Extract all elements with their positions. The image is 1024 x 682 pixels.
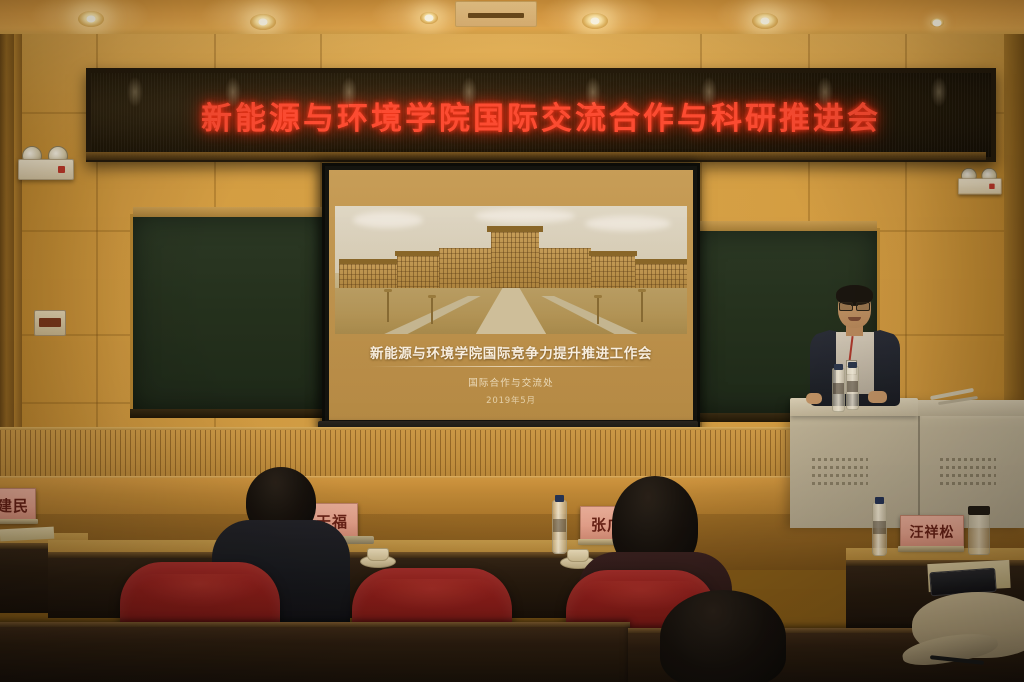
spotlight-icon xyxy=(752,13,778,29)
front-row-desk xyxy=(0,622,630,682)
chalkboard-left xyxy=(130,214,332,412)
wall-left-pillar-inner xyxy=(14,34,22,434)
spotlight-icon xyxy=(78,11,104,27)
nameplate-text: 汪祥松 xyxy=(910,522,955,542)
av-desk xyxy=(918,400,1024,416)
led-banner-shadow xyxy=(86,152,986,160)
nameplate-base xyxy=(0,519,38,524)
slide-date: 2019年5月 xyxy=(329,394,693,406)
projection-screen: 新能源与环境学院国际竞争力提升推进工作会 国际合作与交流处 2019年5月 xyxy=(322,163,700,427)
spotlight-icon xyxy=(930,18,944,27)
conference-hall-photo: 新能源与环境学院国际交流合作与科研推进会 xyxy=(0,0,1024,682)
led-banner: 新能源与环境学院国际交流合作与科研推进会 xyxy=(86,68,996,162)
nameplate-text: 建民 xyxy=(0,495,29,516)
wall-right-pillar xyxy=(1004,34,1024,434)
foreground-person-head xyxy=(660,590,786,682)
spotlight-icon xyxy=(250,14,276,30)
air-vent-icon xyxy=(455,1,537,27)
glasses-icon xyxy=(839,302,870,309)
slide-divider xyxy=(369,366,653,367)
nameplate: 汪祥松 xyxy=(900,515,964,549)
nameplate-base xyxy=(898,546,964,552)
spotlight-icon xyxy=(582,13,608,29)
wall-outlet-icon xyxy=(34,310,66,336)
tea-cup xyxy=(367,548,389,561)
slide-subtitle: 国际合作与交流处 xyxy=(329,375,693,389)
water-bottle xyxy=(846,366,859,410)
tea-cup xyxy=(567,549,589,562)
water-bottle xyxy=(872,502,887,556)
glass-tumbler xyxy=(968,513,990,555)
emergency-light-icon xyxy=(958,168,1000,195)
emergency-light-icon xyxy=(18,146,72,180)
led-banner-text: 新能源与环境学院国际交流合作与科研推进会 xyxy=(201,93,881,138)
slide-photo xyxy=(335,206,687,334)
slide-title: 新能源与环境学院国际竞争力提升推进工作会 xyxy=(329,342,693,362)
nameplate: 建民 xyxy=(0,488,36,522)
spotlight-icon xyxy=(420,12,438,24)
water-bottle xyxy=(552,500,567,554)
water-bottle xyxy=(832,368,845,412)
